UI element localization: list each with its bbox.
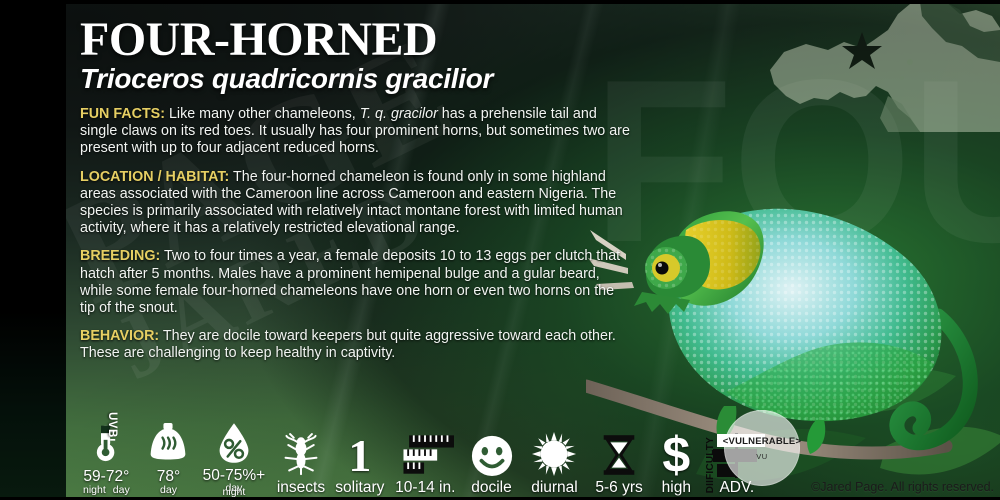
section-label-location: LOCATION / HABITAT:	[80, 169, 229, 185]
basking-value: 78°	[157, 469, 180, 485]
uvb-label: UVB	[106, 412, 118, 438]
temperature-sublabels: night day	[83, 485, 130, 496]
size-value: 10-14 in.	[395, 480, 455, 496]
copyright-notice: ©Jared Page. All rights reserved.	[811, 480, 994, 494]
icon-cell-cost: $ high	[651, 410, 702, 496]
number-one-icon: 1	[348, 431, 371, 477]
number-one-glyph: 1	[348, 435, 371, 477]
icon-cell-lifespan: 5-6 yrs	[587, 410, 651, 496]
dollar-sign-icon: $	[662, 431, 690, 477]
section-fun-facts: FUN FACTS: Like many other chameleons, T…	[80, 106, 632, 158]
sun-icon	[531, 431, 577, 477]
cost-value: high	[662, 480, 691, 496]
conservation-status-code: VU	[756, 452, 767, 461]
section-behavior: BEHAVIOR: They are docile toward keepers…	[80, 328, 632, 362]
icon-cell-temperature: UVB 59-72° night day	[72, 410, 141, 496]
difficulty-vertical-label: DIIFICULTY	[705, 437, 716, 493]
icon-cell-activity: diurnal	[522, 410, 587, 496]
humidity-sublabels: day night	[214, 484, 254, 496]
humidity-drop-icon	[216, 419, 252, 465]
side-label-band	[0, 0, 66, 500]
icon-cell-social: 1 solitary	[330, 410, 389, 496]
species-care-label-card: FOUR PAGE JARED	[0, 0, 1000, 500]
icon-cell-humidity: 50-75%+ day night	[196, 410, 271, 496]
insect-icon	[281, 431, 321, 477]
diet-value: insects	[277, 480, 325, 496]
heat-lamp-icon	[147, 420, 189, 466]
temp-sub-night: night	[83, 485, 106, 496]
section-label-fun-facts: FUN FACTS:	[80, 106, 165, 122]
behavior-text: They are docile toward keepers but quite…	[80, 328, 616, 361]
text-content: FOUR-HORNED Trioceros quadricornis graci…	[80, 16, 680, 363]
lifespan-value: 5-6 yrs	[595, 480, 642, 496]
care-icon-row: UVB 59-72° night day 78° day	[72, 410, 772, 496]
section-location-habitat: LOCATION / HABITAT: The four-horned cham…	[80, 169, 632, 238]
dollar-glyph: $	[662, 433, 690, 477]
smiley-face-icon	[470, 431, 514, 477]
icon-cell-temperament: docile	[461, 410, 522, 496]
section-label-breeding: BREEDING:	[80, 248, 160, 264]
social-value: solitary	[335, 480, 384, 496]
conservation-status-label: <VULNERABLE>	[723, 436, 801, 447]
page-title: FOUR-HORNED	[80, 16, 680, 64]
activity-value: diurnal	[531, 480, 578, 496]
hourglass-icon	[601, 431, 637, 477]
temp-sub-day: day	[113, 485, 130, 496]
section-breeding: BREEDING: Two to four times a year, a fe…	[80, 248, 632, 317]
breeding-text: Two to four times a year, a female depos…	[80, 248, 620, 316]
temperature-value: 59-72°	[83, 469, 129, 485]
icon-cell-basking: 78° day	[141, 410, 197, 496]
conservation-status-badge: <VULNERABLE> VU	[724, 410, 800, 486]
temperament-value: docile	[471, 480, 512, 496]
section-label-behavior: BEHAVIOR:	[80, 328, 159, 344]
fun-facts-text-1: Like many other chameleons,	[165, 106, 360, 122]
basking-sub-day: day	[160, 485, 177, 496]
ruler-icon	[396, 431, 454, 477]
scientific-name: Trioceros quadricornis gracilior	[80, 63, 680, 94]
frame-top-edge	[0, 0, 1000, 4]
icon-cell-size: 10-14 in.	[389, 410, 461, 496]
icon-cell-diet: insects	[272, 410, 331, 496]
fun-facts-italic: T. q. gracilor	[360, 106, 438, 122]
